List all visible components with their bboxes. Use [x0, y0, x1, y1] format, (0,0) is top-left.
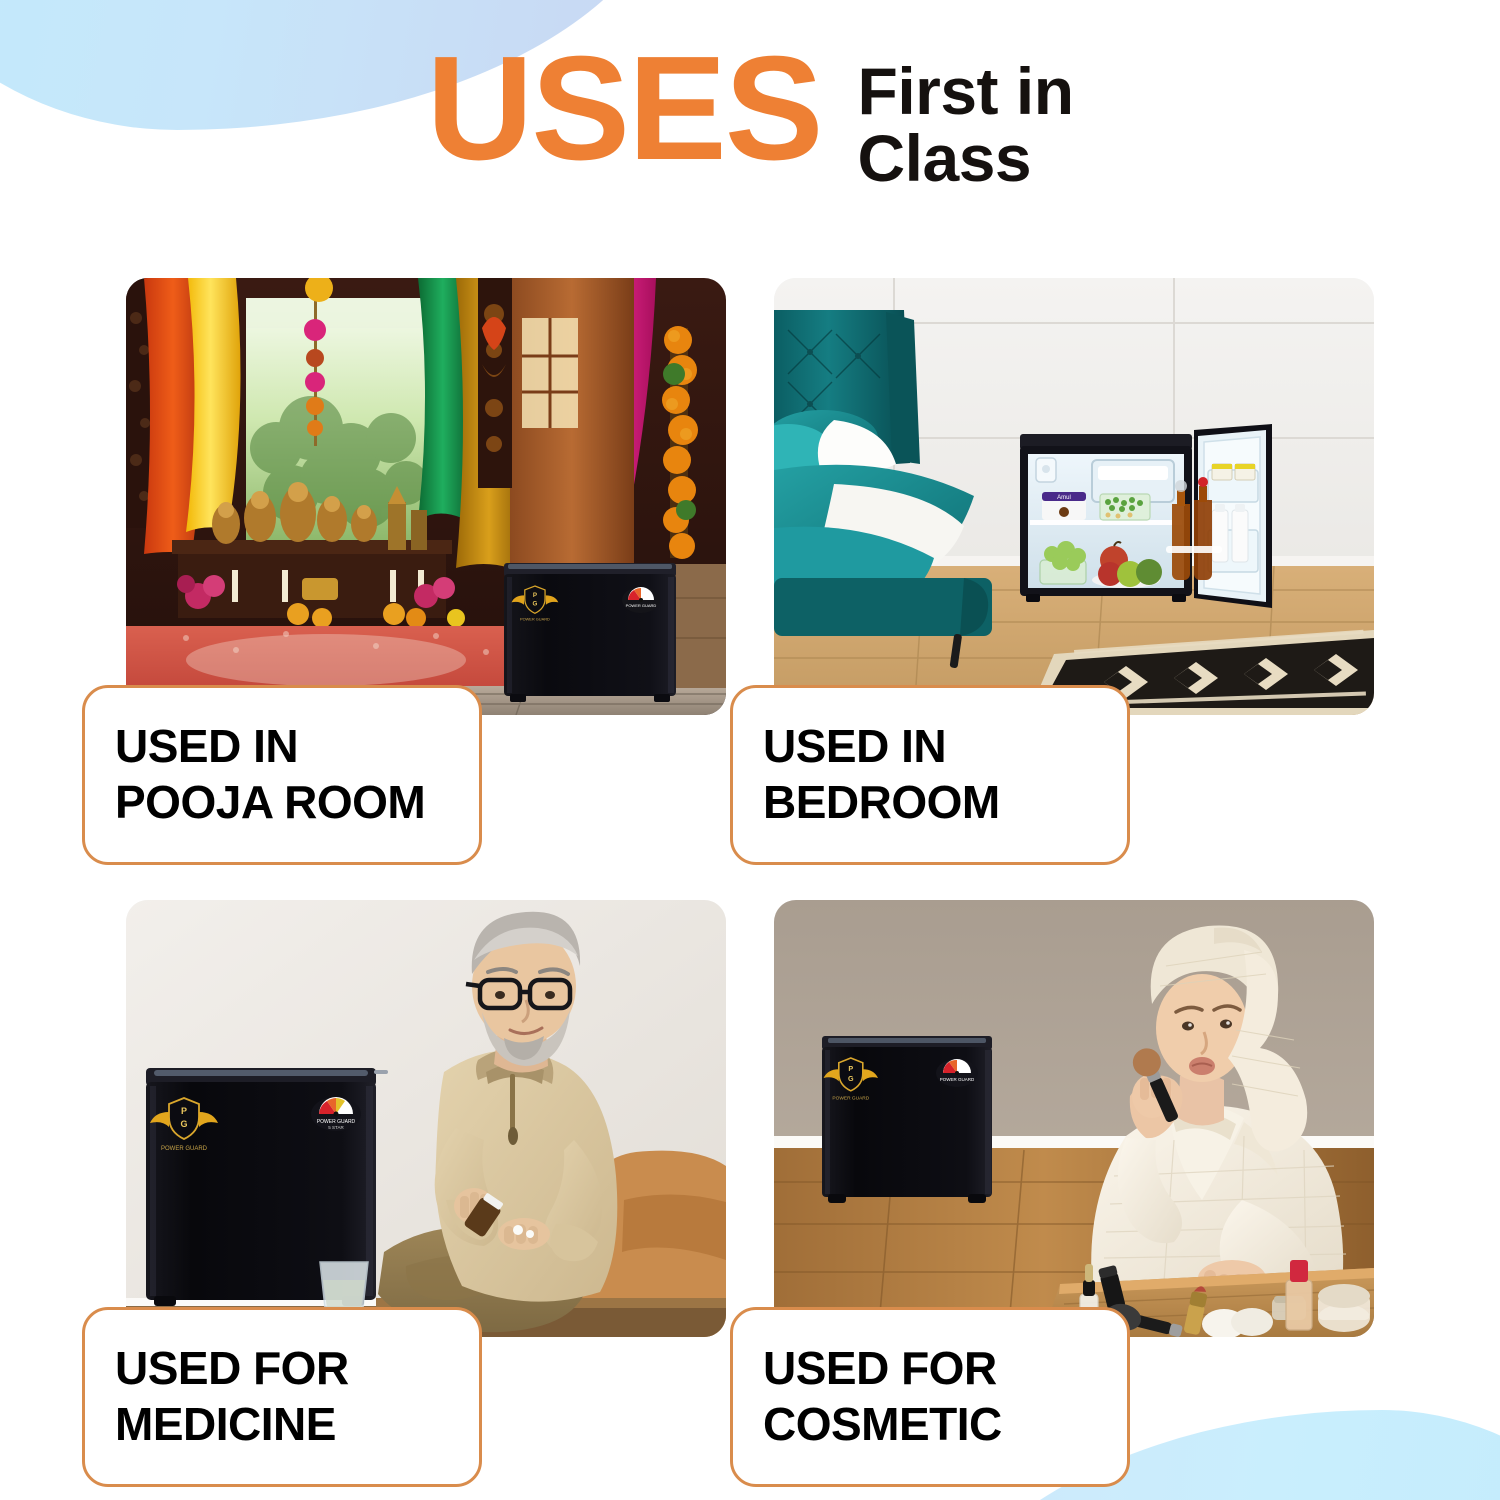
caption-line-1: USED IN	[763, 718, 1087, 774]
svg-text:Amul: Amul	[1057, 495, 1071, 501]
svg-text:P: P	[848, 1064, 853, 1073]
caption-line-1: USED IN	[115, 718, 439, 774]
product-mini-fridge-closed: P G POWER GUARD	[504, 563, 676, 702]
page-subtitle: First in Class	[858, 44, 1074, 193]
use-case-card-pooja-room: P G POWER GUARD	[126, 278, 726, 715]
caption-line-2: POOJA ROOM	[115, 774, 439, 830]
product-mini-fridge-closed: P G POWER GUARD	[822, 1036, 992, 1203]
svg-text:P: P	[181, 1106, 187, 1116]
use-case-card-bedroom: Amul	[774, 278, 1374, 715]
svg-text:P: P	[533, 592, 537, 599]
product-mini-fridge-open: Amul	[1020, 424, 1272, 608]
caption-line-2: BEDROOM	[763, 774, 1087, 830]
use-case-card-medicine: P G POWER GUARD	[126, 900, 726, 1337]
caption-bedroom: USED IN BEDROOM	[730, 685, 1130, 865]
svg-text:POWER GUARD: POWER GUARD	[161, 1146, 208, 1152]
svg-text:G: G	[180, 1119, 187, 1129]
svg-text:POWER GUARD: POWER GUARD	[626, 603, 657, 608]
photo-cosmetic: P G POWER GUARD	[774, 900, 1374, 1337]
use-case-card-cosmetic: P G POWER GUARD	[774, 900, 1374, 1337]
photo-medicine: P G POWER GUARD	[126, 900, 726, 1337]
caption-pooja-room: USED IN POOJA ROOM	[82, 685, 482, 865]
page-subtitle-line-2: Class	[858, 125, 1074, 192]
caption-cosmetic: USED FOR COSMETIC	[730, 1307, 1130, 1487]
svg-text:POWER GUARD: POWER GUARD	[520, 616, 550, 621]
svg-text:G: G	[848, 1074, 854, 1083]
uses-card-grid: P G POWER GUARD	[126, 278, 1374, 1438]
caption-medicine: USED FOR MEDICINE	[82, 1307, 482, 1487]
svg-text:POWER GUARD: POWER GUARD	[940, 1077, 975, 1082]
svg-text:5 STAR: 5 STAR	[328, 1125, 344, 1130]
svg-text:G: G	[532, 601, 537, 608]
svg-text:POWER GUARD: POWER GUARD	[832, 1096, 869, 1102]
page-title: USES	[426, 44, 821, 174]
caption-line-2: COSMETIC	[763, 1396, 1087, 1452]
caption-line-1: USED FOR	[115, 1340, 439, 1396]
infographic-page: USES First in Class	[0, 0, 1500, 1500]
caption-line-2: MEDICINE	[115, 1396, 439, 1452]
photo-pooja-room: P G POWER GUARD	[126, 278, 726, 715]
photo-bedroom: Amul	[774, 278, 1374, 715]
page-subtitle-line-1: First in	[858, 58, 1074, 125]
caption-line-1: USED FOR	[763, 1340, 1087, 1396]
page-header: USES First in Class	[0, 44, 1500, 193]
